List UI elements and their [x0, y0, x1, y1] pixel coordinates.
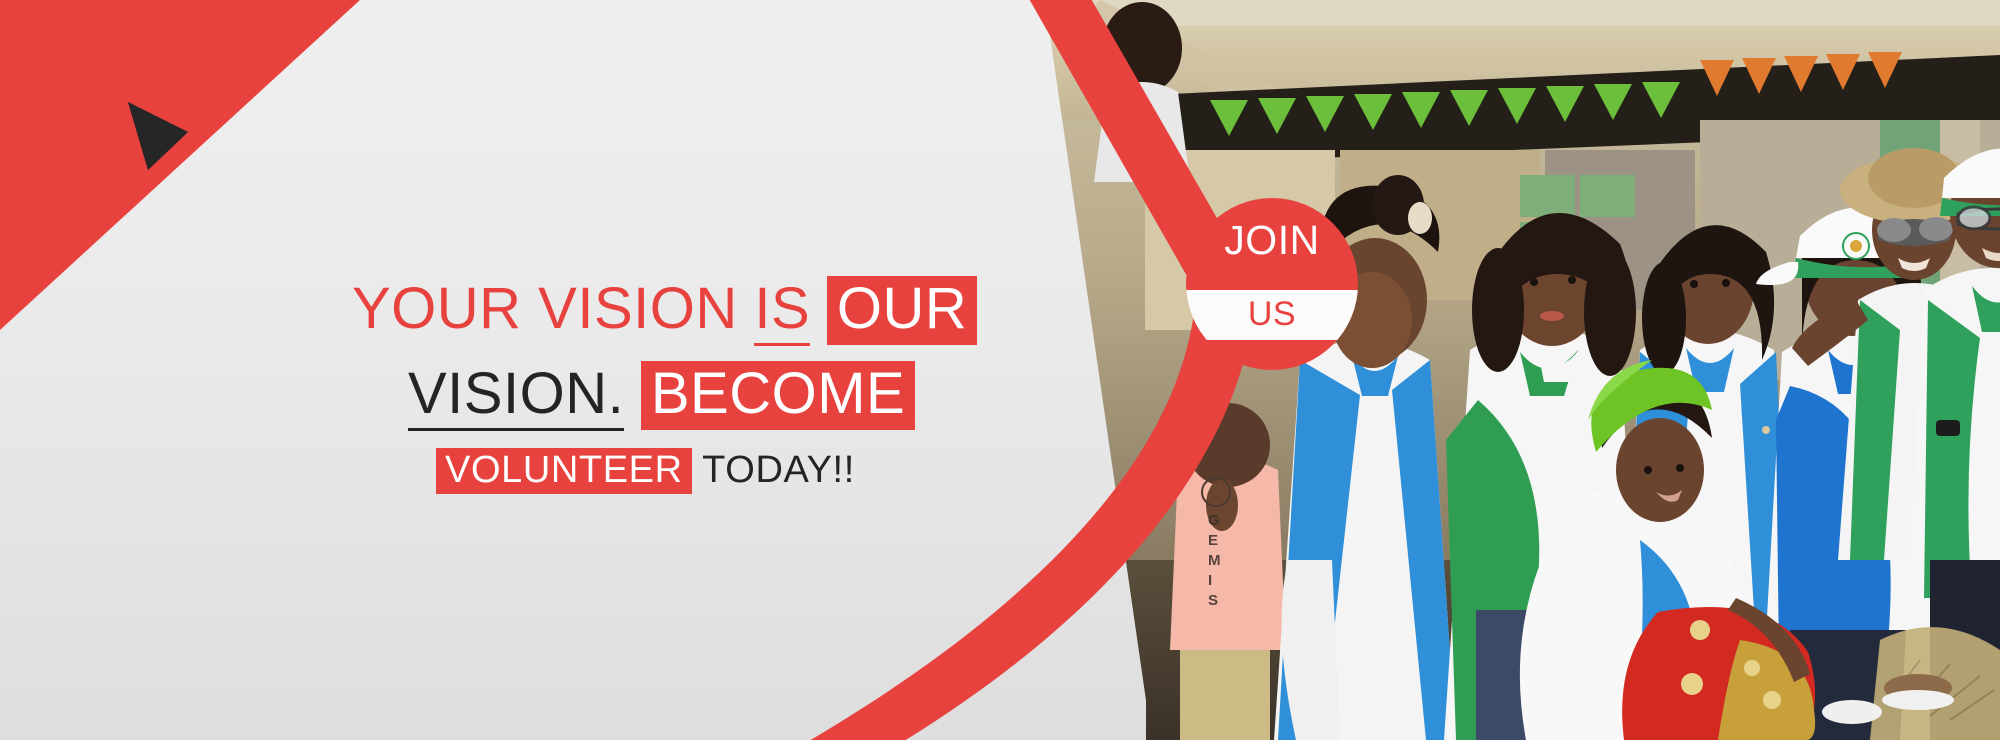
- headline-l1-seg1: YOUR VISION: [352, 276, 738, 341]
- headline-l1-seg2: IS: [754, 276, 810, 346]
- headline-l2-seg2: BECOME: [641, 361, 915, 430]
- headline-l1-seg3: OUR: [827, 276, 977, 345]
- join-us-badge[interactable]: JOIN US: [1186, 198, 1358, 370]
- badge-join-label: JOIN: [1186, 220, 1358, 261]
- headline-l2-seg1: VISION.: [408, 361, 624, 431]
- headline-line-2: VISION. BECOME: [352, 361, 972, 430]
- red-corner-triangle: [0, 0, 360, 330]
- badge-us-label: US: [1186, 297, 1358, 331]
- hero-banner: GE MI S: [0, 0, 2000, 740]
- headline-block: YOUR VISION IS OUR VISION. BECOME VOLUNT…: [352, 276, 972, 500]
- headline-line-3: VOLUNTEER TODAY!!: [352, 448, 972, 494]
- top-left-corner-decoration: [0, 0, 2000, 740]
- headline-l3-seg2: TODAY!!: [702, 449, 855, 491]
- headline-line-1: YOUR VISION IS OUR: [352, 276, 972, 345]
- headline-l3-seg1: VOLUNTEER: [436, 448, 692, 494]
